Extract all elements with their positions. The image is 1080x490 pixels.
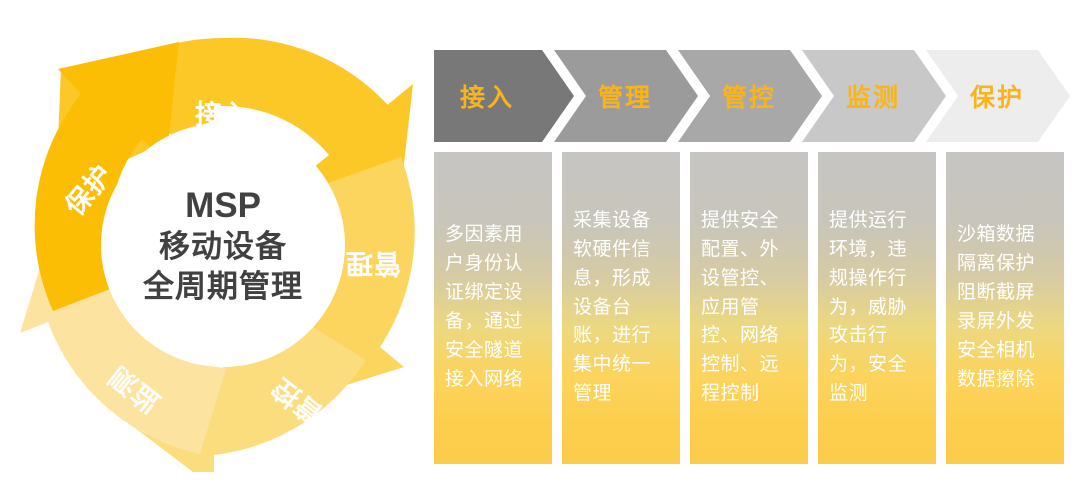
panel-text-1: 多因素用户身份认证绑定设备，通过安全隧道接入网络 [445,221,541,394]
cycle-center-subtitle-2: 全周期管理 [142,269,303,304]
chevron-step-3[interactable]: 管控 [678,50,822,142]
chevron-step-2[interactable]: 管理 [554,50,698,142]
chevron-step-5[interactable]: 保护 [926,50,1070,142]
panel-text-4: 提供运行环境，违规操作行为，威胁攻击行为，安全监测 [829,207,925,409]
cycle-center-subtitle-1: 移动设备 [159,229,287,264]
chevron-label-1: 接入 [460,78,514,114]
chevron-row: 接入 管理 管控 监测 保护 [434,50,1066,142]
panel-text-2: 采集设备软硬件信息，形成设备台账，进行集中统一管理 [573,207,669,409]
panel-step-4[interactable]: 提供运行环境，违规操作行为，威胁攻击行为，安全监测 [818,152,936,464]
panel-text-5: 沙箱数据隔离保护阻断截屏录屏外发安全相机数据擦除 [957,221,1053,394]
panel-step-2[interactable]: 采集设备软硬件信息，形成设备台账，进行集中统一管理 [562,152,680,464]
chevron-label-5: 保护 [970,78,1024,114]
cycle-diagram: 接入 管理 管控 监测 保护 [18,22,428,472]
panel-text-3: 提供安全配置、外设管控、应用管控、网络控制、远程控制 [701,207,797,409]
cycle-center-title: MSP [185,186,261,225]
chevron-label-2: 管理 [598,78,652,114]
panel-step-1[interactable]: 多因素用户身份认证绑定设备，通过安全隧道接入网络 [434,152,552,464]
infographic-canvas: 接入 管理 管控 监测 保护 [0,0,1080,490]
cycle-label-guanli: 管理 [345,248,401,278]
chevron-label-3: 管控 [722,78,776,114]
panel-step-5[interactable]: 沙箱数据隔离保护阻断截屏录屏外发安全相机数据擦除 [946,152,1064,464]
panel-row: 多因素用户身份认证绑定设备，通过安全隧道接入网络 采集设备软硬件信息，形成设备台… [434,152,1066,464]
chevron-step-1[interactable]: 接入 [434,50,574,142]
chevron-label-4: 监测 [846,78,900,114]
panel-step-3[interactable]: 提供安全配置、外设管控、应用管控、网络控制、远程控制 [690,152,808,464]
stage-flow: 接入 管理 管控 监测 保护 多因素用户身份认证绑定设备，通过安全隧道接入网络 … [434,50,1066,470]
chevron-step-4[interactable]: 监测 [802,50,946,142]
